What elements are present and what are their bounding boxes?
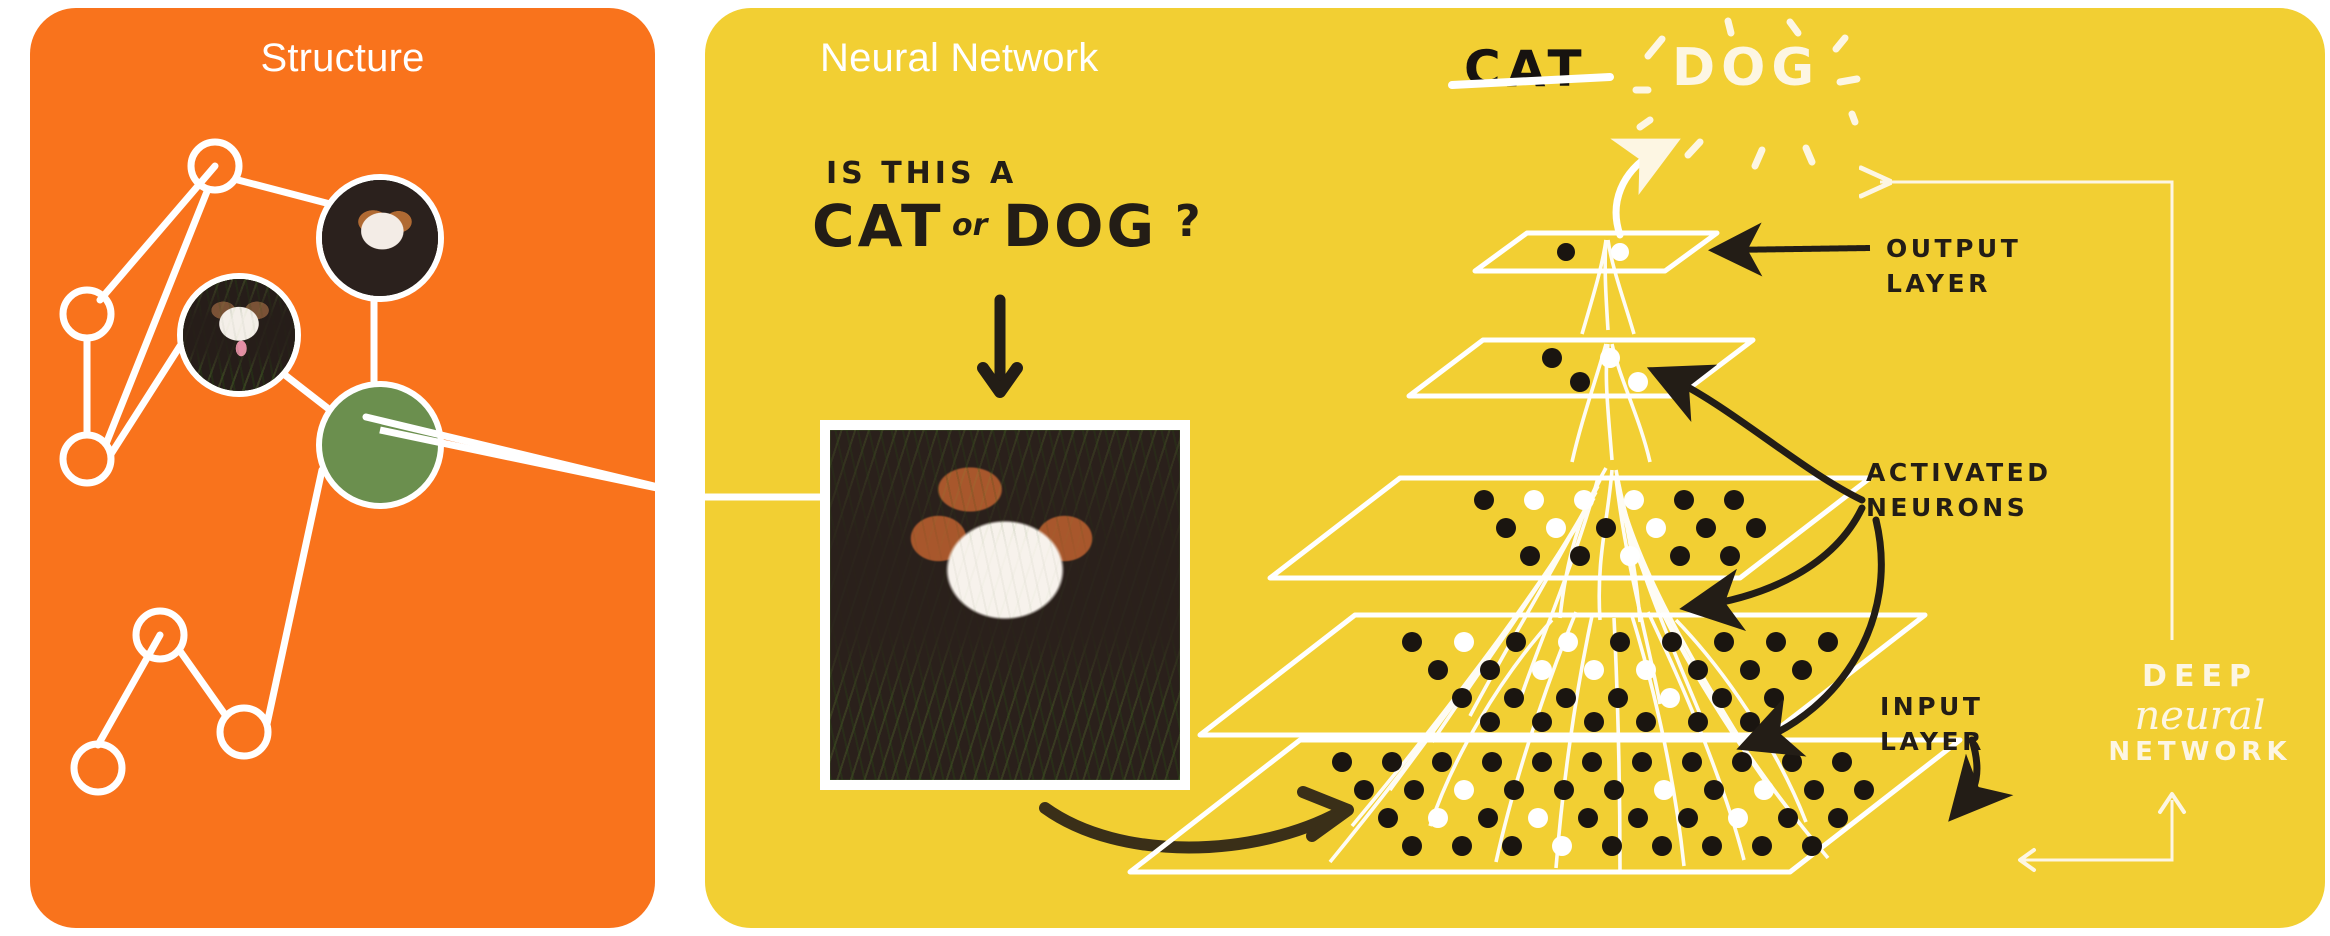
structure-node-n5: [74, 744, 122, 792]
grass-texture: [830, 430, 1180, 780]
structure-node-n3: [63, 435, 111, 483]
neural-network-panel-title: Neural Network: [820, 38, 1098, 78]
structure-node-n2: [63, 290, 111, 338]
question-mark: ?: [1175, 196, 1201, 247]
question-word-cat: CAT: [812, 192, 944, 260]
caption-line-network: NETWORK: [2090, 738, 2310, 767]
question-word-or: or: [952, 208, 987, 243]
edge-n4-n6: [180, 651, 226, 716]
structure-node-n4: [136, 611, 184, 659]
structure-photo-node-bulldog-grass: [177, 273, 301, 397]
edge-n6-dogC: [267, 470, 322, 724]
caption-line-deep: DEEP: [2090, 660, 2310, 693]
input-image-bulldog-puppy: [820, 420, 1190, 790]
annotation-activated-neurons: ACTIVATED NEURONS: [1866, 456, 2052, 525]
question-line-1: IS THIS A: [826, 156, 1017, 191]
bulldog-sitting-photo: [322, 387, 438, 503]
edge-n3-dogB: [111, 346, 180, 454]
edge-n4-n5: [98, 635, 160, 745]
annotation-output-layer: OUTPUT LAYER: [1886, 232, 2021, 301]
caption-line-neural: neural: [2090, 695, 2310, 737]
verdict-label-dog: DOG: [1672, 38, 1820, 98]
structure-node-n6: [220, 708, 268, 756]
question-word-dog: DOG: [1003, 192, 1157, 260]
structure-photo-node-bulldog-show: [316, 174, 444, 302]
deep-neural-network-caption: DEEP neural NETWORK: [2090, 660, 2310, 767]
bulldog-show-photo: [322, 180, 438, 296]
verdict-label-cat: CAT: [1464, 40, 1588, 98]
structure-photo-node-bulldog-sitting: [316, 381, 444, 509]
structure-node-n1: [191, 142, 239, 190]
structure-panel-title: Structure: [30, 38, 655, 78]
structure-panel: Structure: [30, 8, 655, 928]
edge-n1-dogA: [238, 180, 330, 204]
grass-texture: [183, 279, 295, 391]
annotation-input-layer: INPUT LAYER: [1880, 690, 1985, 759]
poster-canvas: Structure: [0, 0, 2330, 936]
